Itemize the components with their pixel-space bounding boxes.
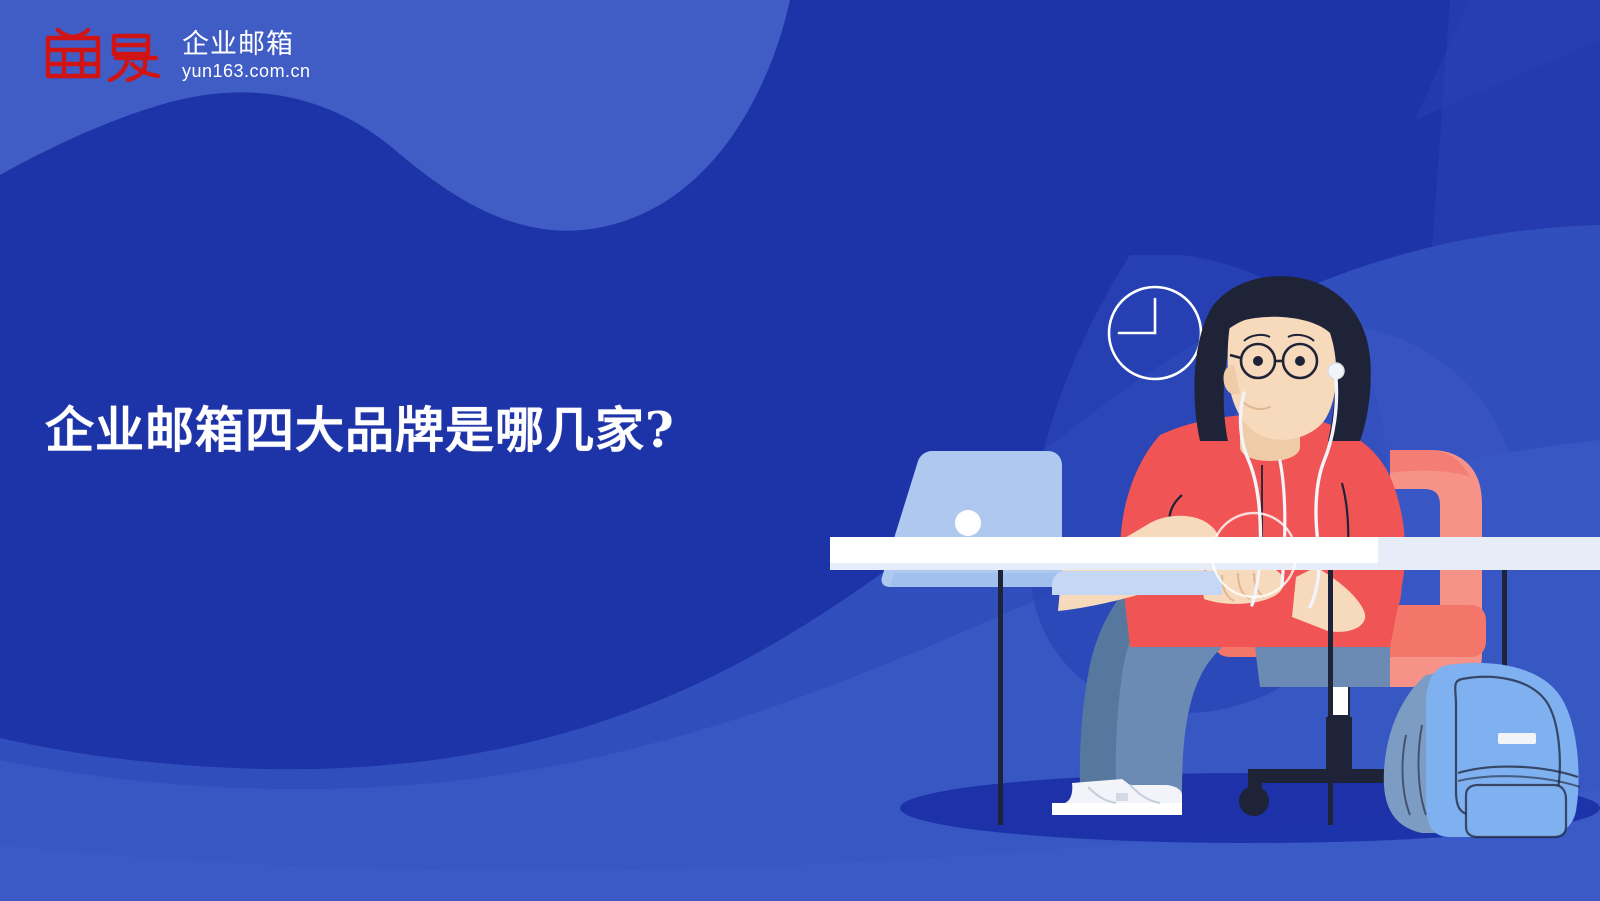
- laptop-logo-dot: [955, 510, 981, 536]
- page-title: 企业邮箱四大品牌是哪几家?: [45, 398, 675, 462]
- desk-leg-left: [998, 570, 1003, 825]
- logo-product-name: 企业邮箱: [182, 30, 311, 60]
- backpack: [1384, 663, 1580, 837]
- logo-url: yun163.com.cn: [182, 60, 311, 82]
- netease-wangyi-logo-icon: [44, 26, 172, 84]
- brand-logo[interactable]: 企业邮箱 yun163.com.cn: [44, 26, 311, 84]
- desk-leg-right: [1328, 570, 1333, 825]
- workspace-illustration: [830, 255, 1600, 901]
- desk-top-shade: [1378, 537, 1600, 563]
- backpack-tag: [1498, 733, 1536, 744]
- marketing-banner: 企业邮箱 yun163.com.cn 企业邮箱四大品牌是哪几家?: [0, 0, 1600, 901]
- logo-text-block: 企业邮箱 yun163.com.cn: [182, 30, 311, 84]
